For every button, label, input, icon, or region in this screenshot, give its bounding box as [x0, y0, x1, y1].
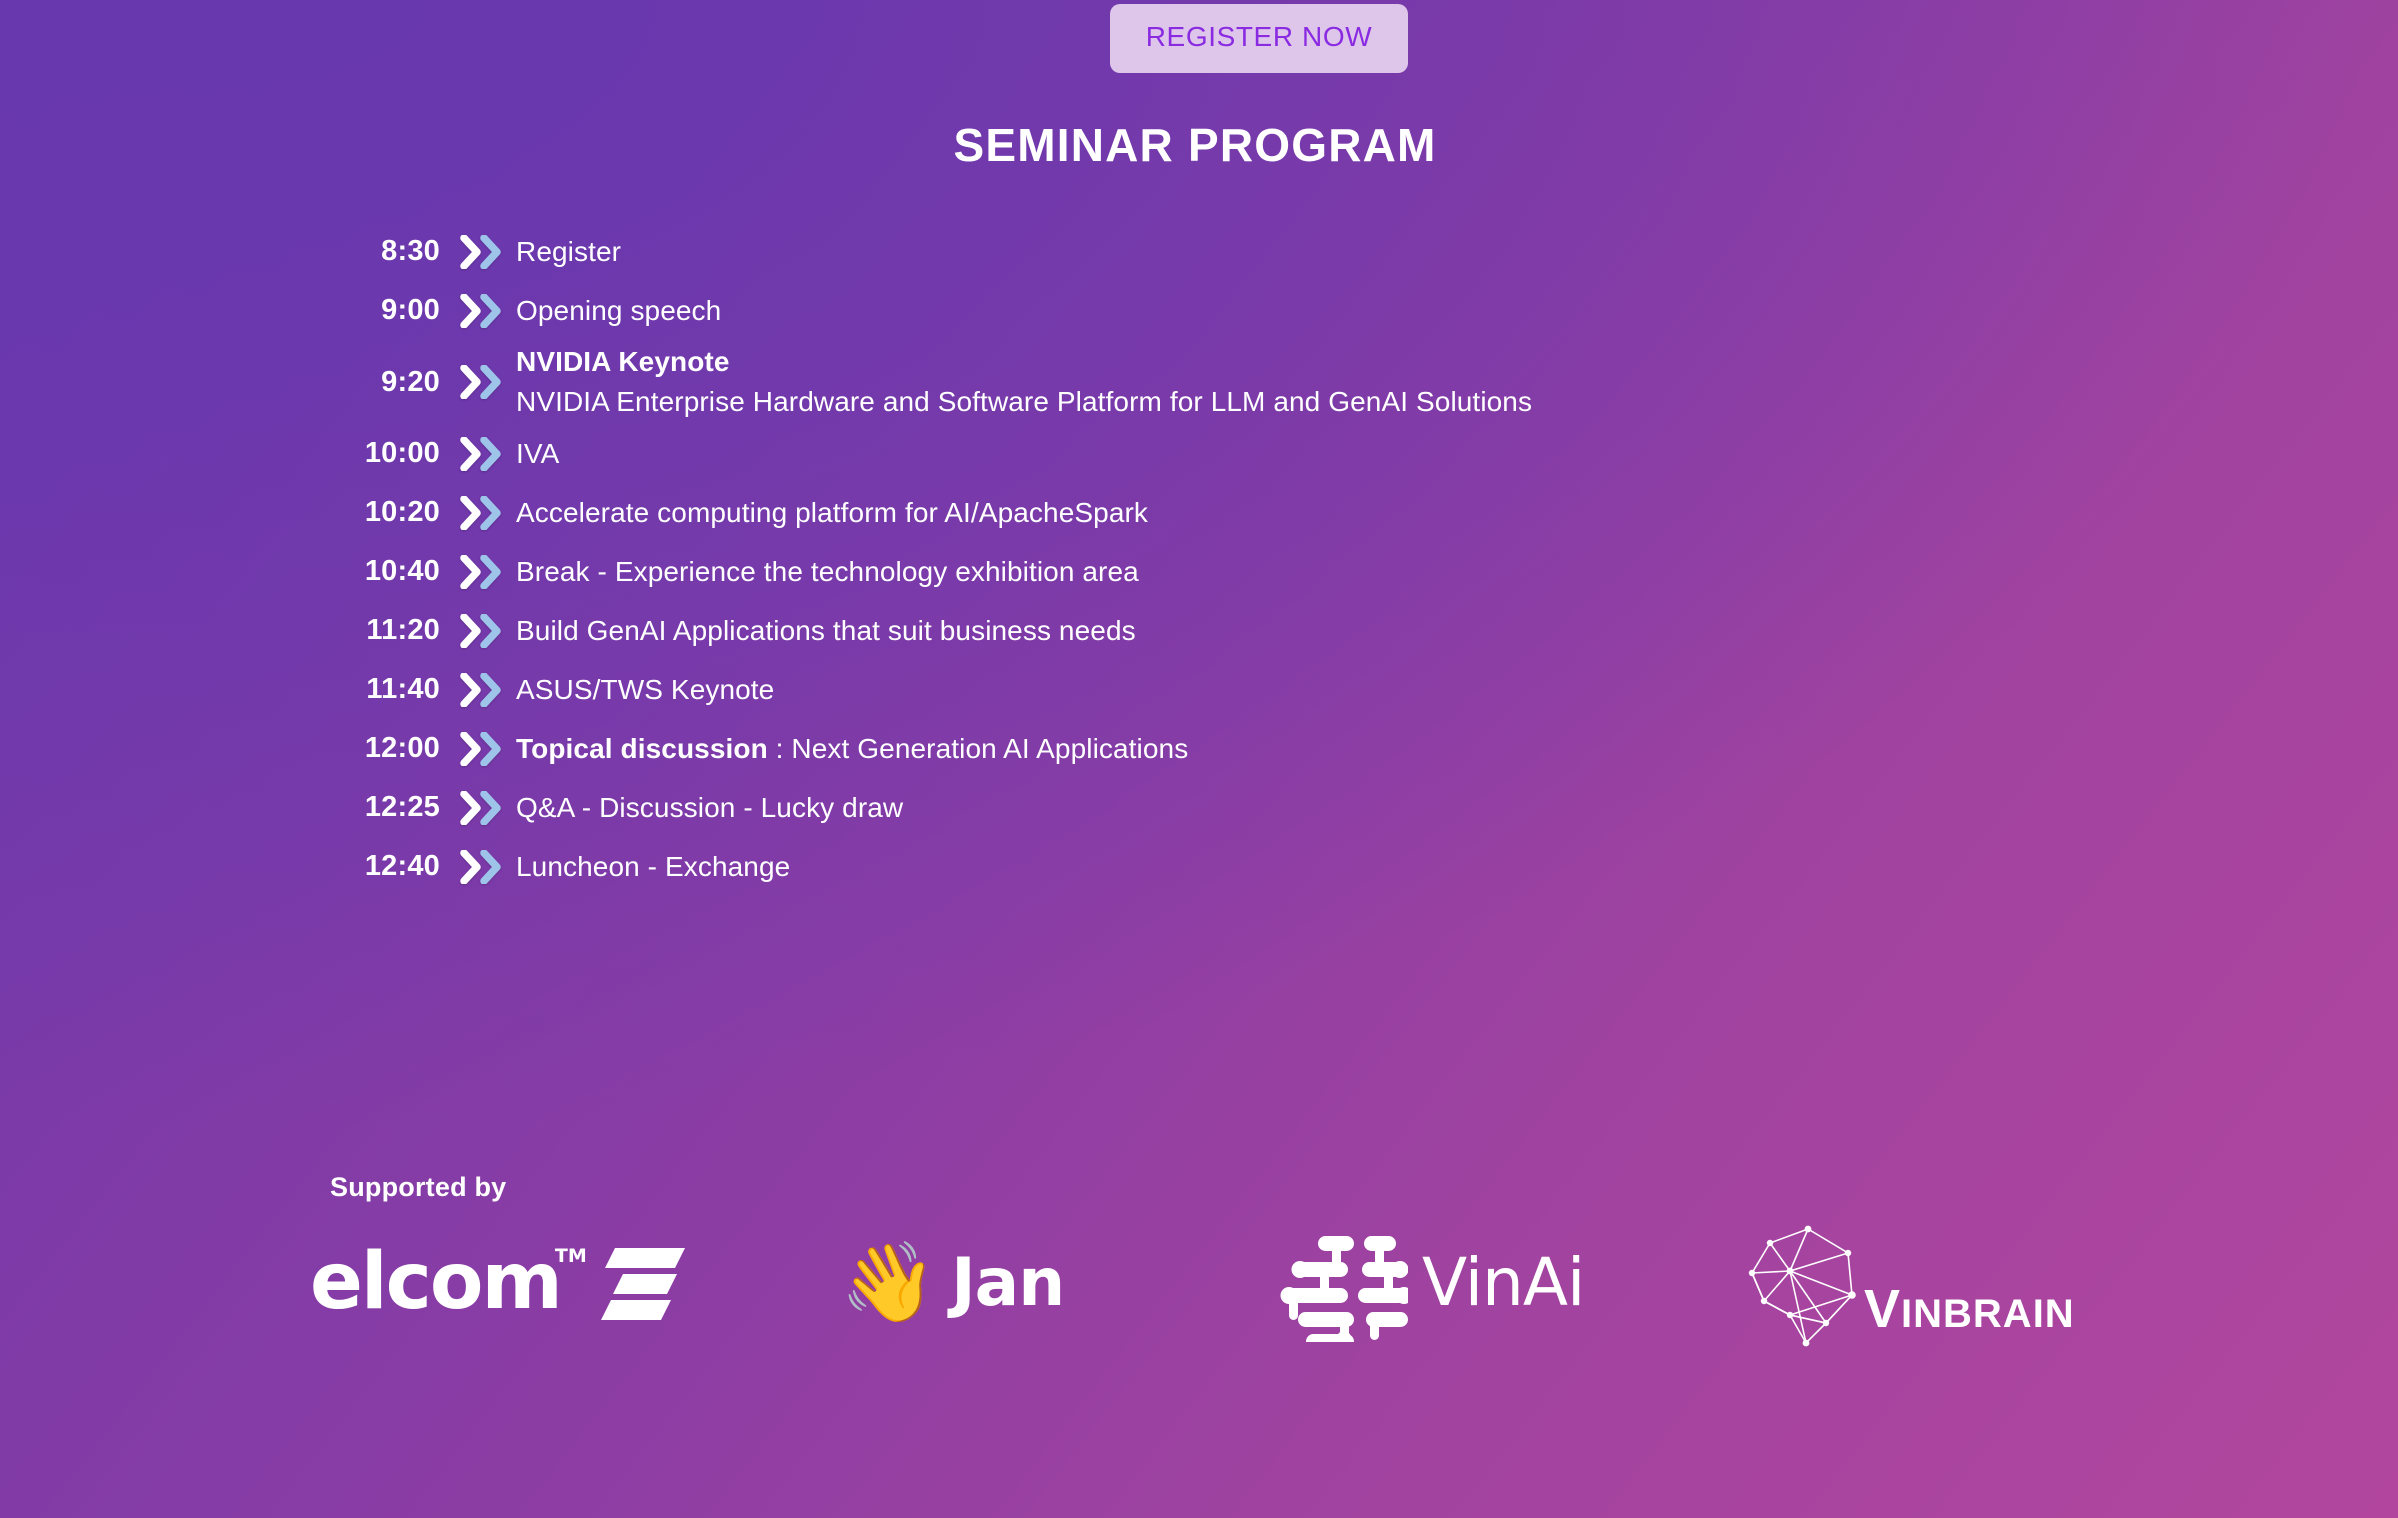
program-row: 10:20Accelerate computing platform for A… [330, 483, 2130, 542]
sponsor-logo-vinbrain[interactable]: VINBRAIN [1730, 1212, 2075, 1352]
waving-hand-icon: 👋 [840, 1243, 937, 1321]
program-title: NVIDIA Keynote [516, 342, 1532, 382]
double-chevron-icon [440, 235, 508, 269]
double-chevron-icon [440, 850, 508, 884]
program-description: Luncheon - Exchange [508, 847, 790, 887]
jan-label: Jan [951, 1244, 1064, 1321]
program-time: 9:20 [330, 366, 440, 399]
vinbrain-wordmark: VINBRAIN [1864, 1278, 2075, 1340]
register-bar: REGISTER NOW [0, 0, 2398, 73]
program-text: Luncheon - Exchange [516, 851, 790, 882]
program-time: 10:20 [330, 496, 440, 529]
program-row: 9:20NVIDIA KeynoteNVIDIA Enterprise Hard… [330, 340, 2130, 424]
elcom-e-mark [597, 1236, 689, 1328]
seminar-program-list: 8:30Register9:00Opening speech9:20NVIDIA… [330, 222, 2130, 896]
program-description: IVA [508, 434, 559, 474]
program-text: Build GenAI Applications that suit busin… [516, 615, 1136, 646]
double-chevron-icon [440, 437, 508, 471]
program-text: Opening speech [516, 295, 721, 326]
page-title: SEMINAR PROGRAM [0, 118, 2398, 172]
program-time: 12:25 [330, 791, 440, 824]
trademark-icon: TM [555, 1247, 587, 1266]
program-row: 12:00Topical discussion : Next Generatio… [330, 719, 2130, 778]
vinbrain-cap: V [1864, 1279, 1901, 1339]
program-row: 11:20Build GenAI Applications that suit … [330, 601, 2130, 660]
program-row: 12:40Luncheon - Exchange [330, 837, 2130, 896]
double-chevron-icon [440, 294, 508, 328]
supported-by-label: Supported by [330, 1172, 506, 1203]
double-chevron-icon [440, 365, 508, 399]
program-text: Register [516, 236, 621, 267]
double-chevron-icon [440, 614, 508, 648]
sponsor-logos: elcom TM 👋 Jan [300, 1212, 2100, 1352]
program-time: 8:30 [330, 235, 440, 268]
program-time: 11:40 [330, 673, 440, 706]
program-description: Break - Experience the technology exhibi… [508, 552, 1139, 592]
elcom-label: elcom [310, 1237, 561, 1327]
program-row: 10:40Break - Experience the technology e… [330, 542, 2130, 601]
program-row: 9:00Opening speech [330, 281, 2130, 340]
program-text: Accelerate computing platform for AI/Apa… [516, 497, 1148, 528]
double-chevron-icon [440, 555, 508, 589]
program-description: Build GenAI Applications that suit busin… [508, 611, 1136, 651]
sponsor-logo-elcom[interactable]: elcom TM [310, 1212, 689, 1352]
program-row: 8:30Register [330, 222, 2130, 281]
double-chevron-icon [440, 791, 508, 825]
program-text: ASUS/TWS Keynote [516, 674, 774, 705]
register-now-button[interactable]: REGISTER NOW [1110, 4, 1409, 73]
program-time: 12:40 [330, 850, 440, 883]
program-time: 9:00 [330, 294, 440, 327]
elcom-wordmark: elcom TM [310, 1243, 561, 1321]
vinbrain-label: INBRAIN [1901, 1292, 2075, 1336]
vinai-label: VinAi [1422, 1244, 1584, 1321]
program-title: Topical discussion [516, 733, 768, 764]
program-description: Register [508, 232, 621, 272]
program-description: Opening speech [508, 291, 721, 331]
double-chevron-icon [440, 673, 508, 707]
program-subtitle: NVIDIA Enterprise Hardware and Software … [516, 382, 1532, 422]
sponsor-logo-vinai[interactable]: VinAi [1280, 1212, 1584, 1352]
sponsor-logo-jan[interactable]: 👋 Jan [840, 1212, 1064, 1352]
program-text: IVA [516, 438, 559, 469]
vinai-circuit-icon [1280, 1222, 1408, 1342]
program-time: 10:00 [330, 437, 440, 470]
program-text: Break - Experience the technology exhibi… [516, 556, 1139, 587]
program-description: Q&A - Discussion - Lucky draw [508, 788, 903, 828]
program-description: ASUS/TWS Keynote [508, 670, 774, 710]
double-chevron-icon [440, 732, 508, 766]
program-row: 12:25Q&A - Discussion - Lucky draw [330, 778, 2130, 837]
program-row: 11:40ASUS/TWS Keynote [330, 660, 2130, 719]
program-text: Q&A - Discussion - Lucky draw [516, 792, 903, 823]
program-subtitle: : Next Generation AI Applications [768, 733, 1189, 764]
program-row: 10:00IVA [330, 424, 2130, 483]
program-time: 12:00 [330, 732, 440, 765]
program-time: 11:20 [330, 614, 440, 647]
double-chevron-icon [440, 496, 508, 530]
program-description: NVIDIA KeynoteNVIDIA Enterprise Hardware… [508, 342, 1532, 422]
program-time: 10:40 [330, 555, 440, 588]
program-description: Topical discussion : Next Generation AI … [508, 729, 1188, 769]
program-description: Accelerate computing platform for AI/Apa… [508, 493, 1148, 533]
